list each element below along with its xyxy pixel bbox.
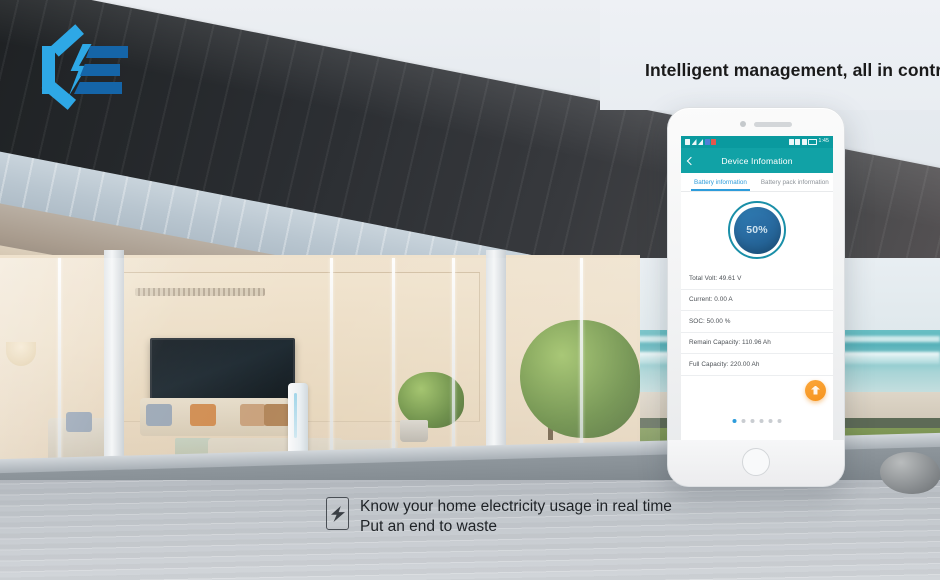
bluetooth-icon	[789, 139, 794, 145]
headline-backdrop	[600, 0, 940, 110]
cushion	[146, 404, 172, 426]
signal-icon	[698, 139, 703, 145]
app-icon	[685, 139, 690, 145]
smartphone-mockup: 1:45 Device Infomation Battery informati…	[667, 107, 845, 487]
battery-gauge-container: 50%	[681, 192, 833, 268]
air-purifier	[288, 383, 308, 455]
cushion	[264, 404, 290, 426]
cushion	[66, 412, 92, 432]
list-item: Remain Capacity: 110.96 Ah	[681, 333, 833, 355]
app-icon	[711, 139, 716, 145]
mute-icon	[802, 139, 807, 145]
logo-e-bar	[86, 46, 128, 58]
feature-caption: Know your home electricity usage in real…	[326, 497, 672, 538]
front-camera-icon	[740, 121, 746, 127]
window-mullion	[330, 258, 333, 473]
window-mullion	[452, 258, 455, 473]
list-item: Full Capacity: 220.00 Ah	[681, 354, 833, 376]
upload-fab-button[interactable]	[805, 380, 826, 401]
headline: Intelligent management, all in control	[645, 60, 940, 81]
earpiece-speaker	[754, 122, 792, 127]
upload-icon	[811, 386, 820, 395]
tab-battery-pack-information[interactable]: Battery pack information	[754, 173, 833, 191]
planter	[400, 420, 428, 442]
cushion	[240, 404, 266, 426]
soc-gauge-value: 50%	[746, 224, 768, 236]
phone-earpiece-area	[668, 108, 844, 136]
window-mullion	[58, 258, 61, 473]
signal-icon	[692, 139, 697, 145]
rock	[880, 452, 940, 494]
caption-line-1: Know your home electricity usage in real…	[360, 497, 672, 517]
ke-logo	[36, 44, 132, 96]
battery-info-list: Total Volt: 49.61 V Current: 0.00 A SOC:…	[681, 268, 833, 376]
page-dot[interactable]	[769, 419, 773, 423]
battery-icon	[808, 139, 817, 145]
phone-chin	[668, 440, 844, 486]
page-dot[interactable]	[751, 419, 755, 423]
app-icon	[705, 139, 710, 145]
alarm-icon	[795, 139, 800, 145]
list-item: SOC: 50.00 %	[681, 311, 833, 333]
page-indicator	[733, 419, 782, 423]
window-mullion	[580, 258, 583, 473]
status-bar-left-icons	[685, 139, 716, 145]
screen-bottom-area	[681, 376, 833, 432]
page-dot[interactable]	[778, 419, 782, 423]
status-bar: 1:45	[681, 136, 833, 148]
list-item: Total Volt: 49.61 V	[681, 268, 833, 290]
list-item: Current: 0.00 A	[681, 290, 833, 312]
tab-battery-information[interactable]: Battery information	[687, 173, 754, 191]
page-dot[interactable]	[742, 419, 746, 423]
logo-e-bar	[74, 82, 122, 94]
tab-bar: Battery information Battery pack informa…	[681, 173, 833, 192]
page-title: Device Infomation	[721, 156, 792, 166]
logo-e-bar	[80, 64, 120, 76]
caption-lines: Know your home electricity usage in real…	[360, 497, 672, 538]
status-bar-right-icons: 1:45	[789, 139, 830, 145]
cushion	[190, 404, 216, 426]
phone-screen: 1:45 Device Infomation Battery informati…	[681, 136, 833, 442]
caption-line-2: Put an end to waste	[360, 517, 672, 537]
page-dot[interactable]	[760, 419, 764, 423]
soc-gauge-fill: 50%	[734, 207, 781, 254]
lightning-bolt-icon	[326, 497, 349, 530]
back-arrow-icon[interactable]	[687, 156, 695, 164]
ceiling-vent	[135, 288, 265, 296]
structural-column	[104, 250, 124, 480]
app-bar: Device Infomation	[681, 148, 833, 173]
soc-gauge: 50%	[728, 201, 786, 259]
status-bar-clock: 1:45	[819, 139, 830, 144]
home-button[interactable]	[742, 448, 770, 476]
window-mullion	[392, 258, 395, 473]
page-dot[interactable]	[733, 419, 737, 423]
